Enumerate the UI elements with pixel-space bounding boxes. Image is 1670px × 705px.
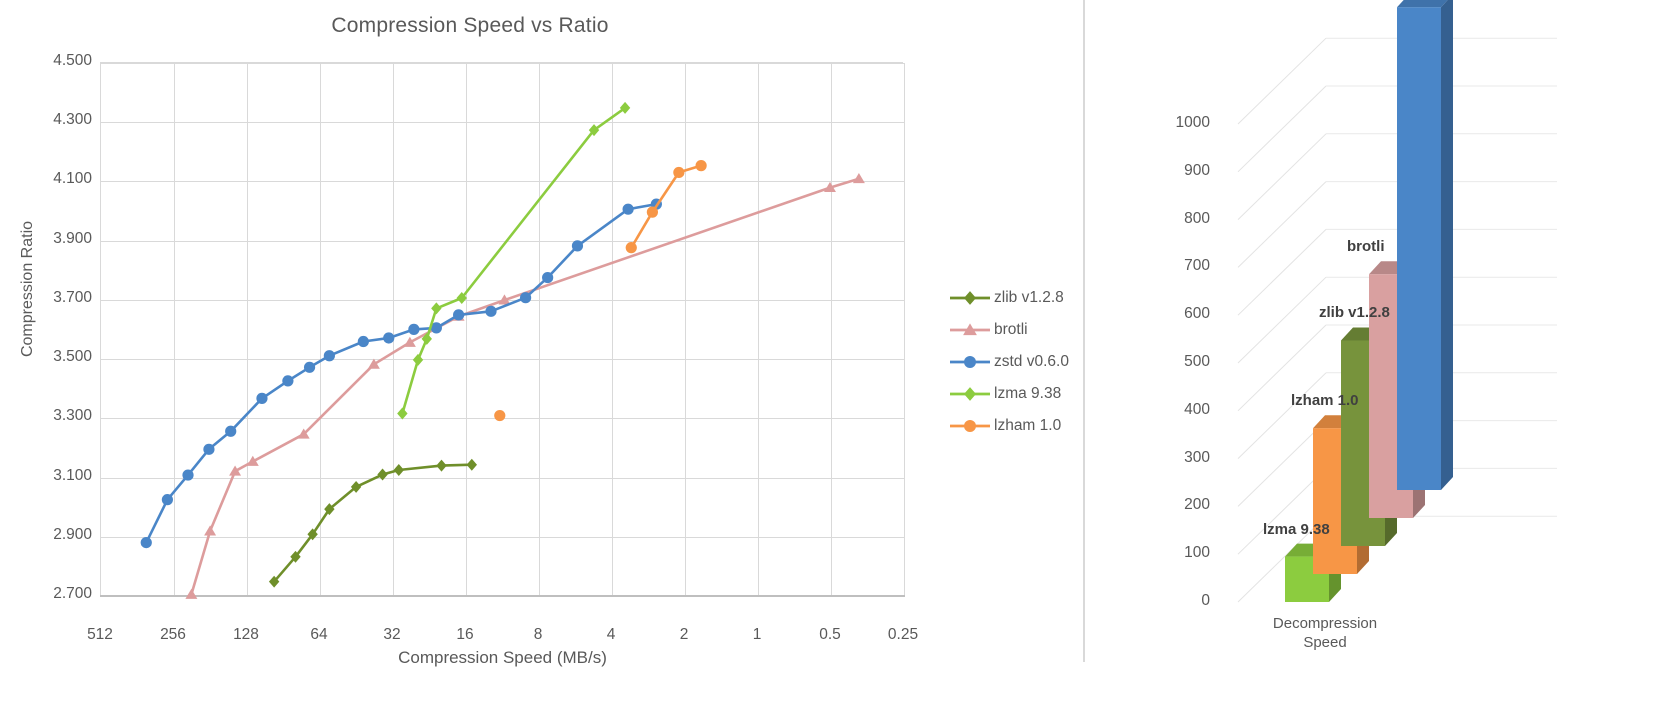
legend-label: zstd v0.6.0 [992, 353, 1069, 371]
y-axis-title: Compression Ratio [19, 39, 37, 539]
data-point [203, 444, 214, 455]
data-point [377, 469, 387, 481]
data-point [304, 362, 315, 373]
x-axis-tick: 2 [649, 626, 719, 644]
bar-depth-gridline [1238, 134, 1326, 220]
x-axis-tick: 64 [284, 626, 354, 644]
compression-scatter-chart: Compression Speed vs Ratio 2.7002.9003.1… [0, 0, 1083, 662]
x-axis-tick: 8 [503, 626, 573, 644]
data-point [383, 332, 394, 343]
chart-title: Compression Speed vs Ratio [0, 14, 940, 38]
legend-label: zlib v1.2.8 [992, 289, 1064, 307]
y-axis-tick-labels: 2.7002.9003.1003.3003.5003.7003.9004.100… [0, 0, 92, 662]
data-point [185, 589, 197, 599]
x-axis-tick: 4 [576, 626, 646, 644]
bar-value-label: lzma 9.38 [1263, 521, 1330, 538]
data-point [182, 469, 193, 480]
legend-item-zlib-v1-2-8[interactable]: zlib v1.2.8 [948, 282, 1078, 314]
bar-depth-gridline [1238, 182, 1326, 268]
bar-x-axis-label-line: Speed [1225, 633, 1425, 652]
data-point [467, 459, 477, 471]
bar-y-axis-tick: 600 [1150, 305, 1210, 323]
data-point [358, 336, 369, 347]
legend-item-lzma-9-38[interactable]: lzma 9.38 [948, 378, 1078, 410]
bar-y-axis-tick: 500 [1150, 353, 1210, 371]
series-zstd-v0-6-0 [141, 199, 662, 549]
legend-item-brotli[interactable]: brotli [948, 314, 1078, 346]
x-axis-tick: 512 [65, 626, 135, 644]
legend-marker-icon [948, 353, 992, 371]
data-point [853, 173, 865, 183]
series-zlib-v1-2-8 [269, 459, 477, 588]
x-axis-tick: 1 [722, 626, 792, 644]
data-point [204, 525, 216, 535]
data-point [696, 160, 707, 171]
data-point [623, 204, 634, 215]
data-point [413, 354, 423, 366]
data-point [141, 537, 152, 548]
legend-marker-icon [948, 289, 992, 307]
bar-value-label: lzham 1.0 [1291, 392, 1359, 409]
data-point [542, 272, 553, 283]
series-lzham-1-0 [494, 160, 707, 421]
data-point [485, 306, 496, 317]
x-axis-title: Compression Speed (MB/s) [100, 648, 905, 668]
bar-depth-gridline [1238, 38, 1326, 124]
x-axis-tick: 16 [430, 626, 500, 644]
bar-value-label: zlib v1.2.8 [1319, 304, 1390, 321]
x-axis-tick: 0.5 [795, 626, 865, 644]
bar-y-axis-tick: 1000 [1150, 114, 1210, 132]
series-lzma-9-38 [397, 102, 630, 420]
bar-x-axis-label: DecompressionSpeed [1225, 614, 1425, 652]
bar-y-axis-tick: 100 [1150, 544, 1210, 562]
data-point [229, 466, 241, 476]
y-axis-tick: 2.700 [6, 585, 92, 603]
bar-depth-gridline [1238, 421, 1326, 507]
bar-depth-gridline [1238, 86, 1326, 172]
data-point [256, 393, 267, 404]
data-point [247, 456, 259, 466]
bar-depth-gridline [1238, 277, 1326, 363]
bar-x-axis-label-line: Decompression [1225, 614, 1425, 633]
series-plot [100, 62, 903, 595]
data-point [404, 337, 416, 347]
x-axis-tick: 256 [138, 626, 208, 644]
legend-marker-icon [948, 417, 992, 435]
data-point [431, 302, 441, 314]
data-point [324, 350, 335, 361]
x-axis-tick: 32 [357, 626, 427, 644]
gridline-vertical [904, 63, 905, 596]
bar-y-axis-tick: 300 [1150, 449, 1210, 467]
data-point [394, 464, 404, 476]
x-axis-line [100, 595, 905, 597]
bar-y-axis-tick: 200 [1150, 496, 1210, 514]
bar-depth-gridline [1238, 373, 1326, 459]
legend-marker-icon [948, 385, 992, 403]
legend-label: lzma 9.38 [992, 385, 1061, 403]
bar-y-axis-tick: 800 [1150, 210, 1210, 228]
bars-plot [1085, 0, 1557, 662]
legend-label: lzham 1.0 [992, 417, 1061, 435]
bar-y-axis-tick: 700 [1150, 257, 1210, 275]
decompression-bar-chart: 01002003004005006007008009001000 lzma 9.… [1085, 0, 1557, 662]
data-point [520, 292, 531, 303]
data-point [282, 375, 293, 386]
data-point [494, 410, 505, 421]
bar-depth-gridline [1238, 468, 1326, 554]
data-point [572, 240, 583, 251]
bottom-strip [0, 662, 1670, 705]
bar-zstd-v0-6-0 [1397, 0, 1453, 490]
x-axis-tick: 0.25 [868, 626, 938, 644]
data-point [453, 309, 464, 320]
data-point [436, 460, 446, 472]
data-point [225, 426, 236, 437]
bar-depth-gridline [1238, 229, 1326, 315]
bar-y-axis-tick: 400 [1150, 401, 1210, 419]
data-point [162, 494, 173, 505]
legend-marker-icon [948, 321, 992, 339]
right-edge-spacer [1557, 0, 1670, 662]
legend-item-zstd-v0-6-0[interactable]: zstd v0.6.0 [948, 346, 1078, 378]
data-point [397, 408, 407, 420]
bar-y-axis-tick: 0 [1150, 592, 1210, 610]
bar-value-label: brotli [1347, 238, 1385, 255]
data-point [626, 242, 637, 253]
data-point [673, 167, 684, 178]
bar-y-axis-tick: 900 [1150, 162, 1210, 180]
chart-legend: zlib v1.2.8brotlizstd v0.6.0lzma 9.38lzh… [948, 282, 1078, 442]
data-point [647, 207, 658, 218]
x-axis-tick: 128 [211, 626, 281, 644]
data-point [368, 359, 380, 369]
legend-label: brotli [992, 321, 1028, 339]
data-point [408, 324, 419, 335]
legend-item-lzham-1-0[interactable]: lzham 1.0 [948, 410, 1078, 442]
